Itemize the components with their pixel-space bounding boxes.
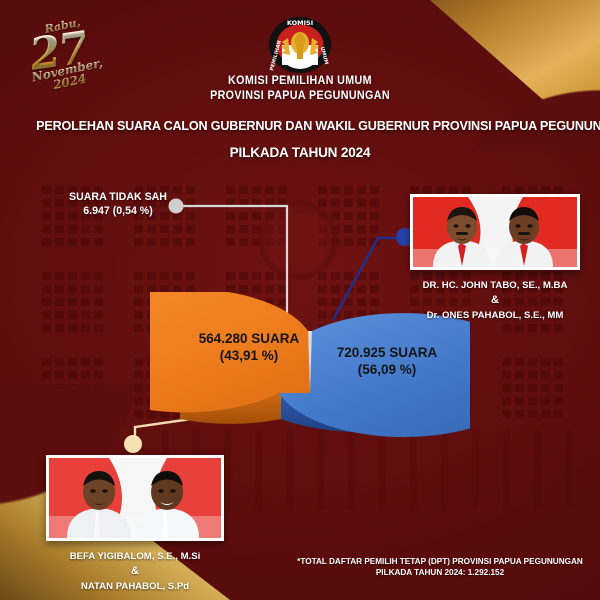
candidate-names-pair-2: BEFA YIGIBALOM, S.E., M.Si & NATAN PAHAB… xyxy=(30,549,240,594)
candidate-names-pair-1: DR. HC. JOHN TABO, SE., M.BA & Dr. ONES … xyxy=(392,278,598,323)
kpu-logo-icon: KOMISI PEMILIHAN UMUM xyxy=(268,16,332,74)
headline-line-1: PEROLEHAN SUARA CALON GUBERNUR DAN WAKIL… xyxy=(36,113,564,139)
pair-1-name-line-1: DR. HC. JOHN TABO, SE., M.BA xyxy=(392,278,598,293)
kpu-logo-watermark xyxy=(258,200,338,280)
invalid-votes-label: SUARA TIDAK SAH xyxy=(58,190,178,204)
candidate-pair-2-portrait xyxy=(49,458,221,538)
candidate-photo-pair-1 xyxy=(410,194,580,270)
headline-line-2: PILKADA TAHUN 2024 xyxy=(36,139,564,165)
pair-1-ampersand: & xyxy=(392,293,598,308)
org-line-1: KOMISI PEMILIHAN UMUM xyxy=(21,74,579,89)
organization-name: KOMISI PEMILIHAN UMUM PROVINSI PAPUA PEG… xyxy=(0,74,600,104)
pair-2-name-line-2: NATAN PAHABOL, S.Pd xyxy=(30,579,240,594)
org-line-2: PROVINSI PAPUA PEGUNUNGAN xyxy=(21,89,579,104)
page-title: PEROLEHAN SUARA CALON GUBERNUR DAN WAKIL… xyxy=(28,113,572,165)
pair-2-name-line-1: BEFA YIGIBALOM, S.E., M.Si xyxy=(30,549,240,564)
candidate-pair-1-portrait xyxy=(413,197,577,267)
pair-1-name-line-2: Dr. ONES PAHABOL, S.E., MM xyxy=(392,308,598,323)
svg-text:KOMISI: KOMISI xyxy=(287,19,313,27)
pair-2-ampersand: & xyxy=(30,564,240,579)
footnote: *TOTAL DAFTAR PEMILIH TETAP (DPT) PROVIN… xyxy=(290,556,590,578)
invalid-votes-callout: SUARA TIDAK SAH 6.947 (0,54 %) xyxy=(58,190,178,218)
candidate-photo-pair-2 xyxy=(46,455,224,541)
footnote-line-1: *TOTAL DAFTAR PEMILIH TETAP (DPT) PROVIN… xyxy=(290,556,590,567)
footnote-line-2: PILKADA TAHUN 2024: 1.292.152 xyxy=(290,567,590,578)
invalid-votes-value: 6.947 (0,54 %) xyxy=(58,204,178,218)
